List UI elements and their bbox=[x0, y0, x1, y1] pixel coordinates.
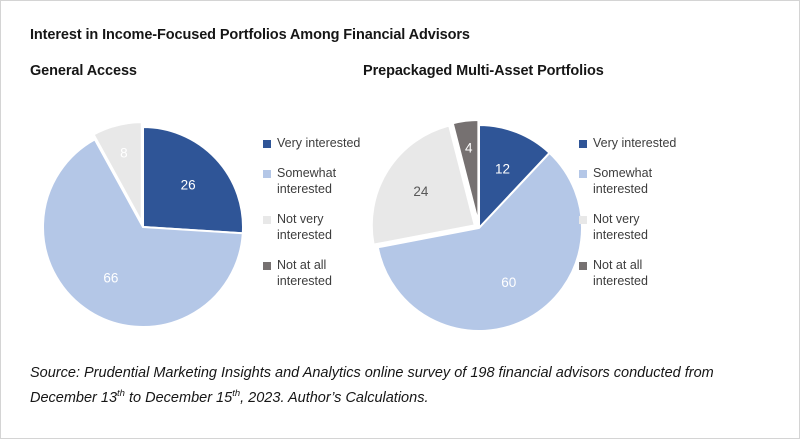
legend-swatch-icon bbox=[263, 140, 271, 148]
source-note: Source: Prudential Marketing Insights an… bbox=[30, 361, 770, 411]
legend-swatch-icon bbox=[263, 262, 271, 270]
chart-figure: Interest in Income-Focused Portfolios Am… bbox=[0, 0, 800, 439]
legend-label: Somewhat interested bbox=[277, 165, 371, 197]
legend-label: Not very interested bbox=[593, 211, 687, 243]
pie-chart-general-access: 26668 bbox=[37, 119, 252, 334]
pie-chart-prepackaged-multi-asset: 1260244 bbox=[372, 116, 590, 338]
legend-swatch-icon bbox=[579, 262, 587, 270]
legend-item-prepackaged-3[interactable]: Not at all interested bbox=[579, 257, 687, 289]
panel-title-general-access: General Access bbox=[30, 63, 137, 79]
legend-label: Not very interested bbox=[277, 211, 371, 243]
pie-slice-value-label: 24 bbox=[413, 184, 429, 199]
legend-swatch-icon bbox=[263, 216, 271, 224]
pie-slice-value-label: 8 bbox=[120, 145, 128, 160]
legend-item-general-access-3[interactable]: Not at all interested bbox=[263, 257, 371, 289]
legend-item-prepackaged-2[interactable]: Not very interested bbox=[579, 211, 687, 243]
legend-item-general-access-0[interactable]: Very interested bbox=[263, 135, 371, 151]
legend-item-general-access-1[interactable]: Somewhat interested bbox=[263, 165, 371, 197]
legend-swatch-icon bbox=[579, 170, 587, 178]
legend-prepackaged-multi-asset: Very interestedSomewhat interestedNot ve… bbox=[579, 135, 687, 303]
legend-swatch-icon bbox=[579, 216, 587, 224]
source-superscript-1: th bbox=[117, 388, 125, 399]
pie-slices-prepackaged-multi-asset bbox=[372, 120, 582, 331]
legend-item-prepackaged-0[interactable]: Very interested bbox=[579, 135, 687, 151]
legend-swatch-icon bbox=[579, 140, 587, 148]
legend-item-general-access-2[interactable]: Not very interested bbox=[263, 211, 371, 243]
legend-general-access: Very interestedSomewhat interestedNot ve… bbox=[263, 135, 371, 303]
panel-title-prepackaged-multi-asset: Prepackaged Multi-Asset Portfolios bbox=[363, 63, 604, 79]
pie-slice-value-label: 12 bbox=[495, 162, 510, 177]
page-title: Interest in Income-Focused Portfolios Am… bbox=[30, 27, 470, 43]
legend-label: Somewhat interested bbox=[593, 165, 687, 197]
legend-label: Not at all interested bbox=[593, 257, 687, 289]
source-superscript-2: th bbox=[232, 388, 240, 399]
pie-slice-value-label: 26 bbox=[181, 178, 196, 193]
legend-label: Very interested bbox=[277, 135, 360, 151]
legend-item-prepackaged-1[interactable]: Somewhat interested bbox=[579, 165, 687, 197]
source-middle: to December 15 bbox=[125, 390, 232, 406]
pie-slice-value-label: 4 bbox=[465, 140, 473, 155]
source-suffix: , 2023. Author’s Calculations. bbox=[240, 390, 428, 406]
pie-slices-general-access bbox=[43, 122, 243, 327]
pie-slice-value-label: 60 bbox=[501, 275, 516, 290]
legend-label: Not at all interested bbox=[277, 257, 371, 289]
pie-svg-prepackaged-multi-asset: 1260244 bbox=[372, 116, 590, 338]
pie-slice-value-label: 66 bbox=[103, 271, 118, 286]
legend-label: Very interested bbox=[593, 135, 676, 151]
legend-swatch-icon bbox=[263, 170, 271, 178]
pie-svg-general-access: 26668 bbox=[37, 119, 252, 334]
